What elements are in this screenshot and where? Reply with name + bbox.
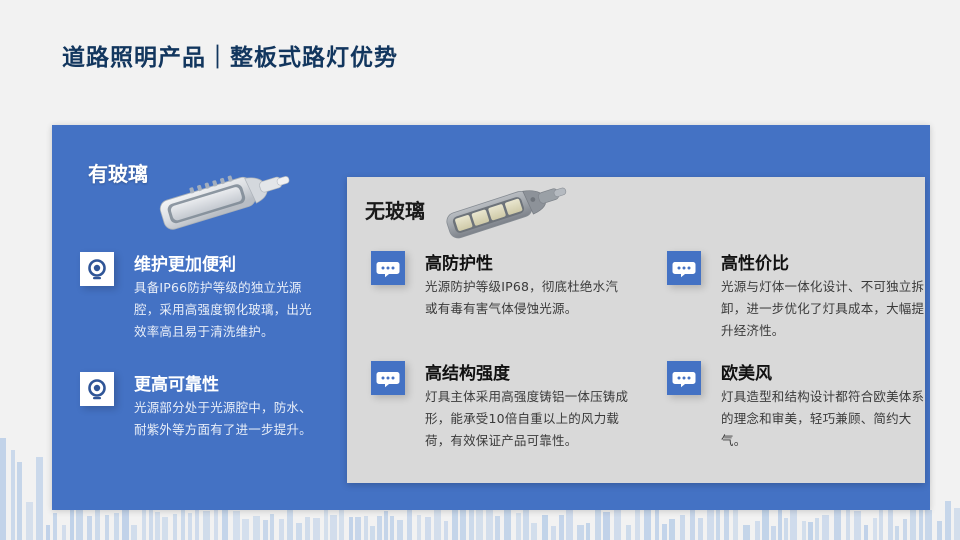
decorative-bar	[62, 525, 66, 540]
decorative-bar	[131, 525, 137, 540]
decorative-bar	[586, 523, 590, 540]
decorative-bar	[778, 506, 782, 540]
decorative-bar	[846, 505, 850, 540]
decorative-bar	[242, 519, 249, 540]
decorative-bar	[822, 515, 829, 540]
decorative-bar	[577, 525, 584, 540]
decorative-bar	[0, 438, 6, 540]
decorative-bar	[203, 511, 210, 540]
decorative-bar	[313, 518, 320, 540]
decorative-bar	[655, 509, 659, 540]
decorative-bar	[802, 521, 806, 540]
decorative-bar	[142, 506, 146, 540]
decorative-bar	[542, 515, 548, 540]
decorative-bar	[377, 516, 382, 540]
decorative-bar	[397, 520, 403, 540]
decorative-bar	[551, 526, 556, 540]
feature-body: 灯具主体采用高强度铸铝一体压铸成形，能承受10倍自重以上的风力载荷，有效保证产品…	[425, 386, 630, 452]
ring-icon	[80, 372, 114, 406]
decorative-bar	[733, 506, 738, 540]
slide-canvas: 道路照明产品｜整板式路灯优势 有玻璃	[0, 0, 960, 540]
feature-title: 维护更加便利	[134, 250, 236, 275]
feature-body: 光源防护等级IP68，彻底杜绝水汽或有毒有害气体侵蚀光源。	[425, 276, 630, 320]
decorative-bar	[954, 508, 960, 540]
decorative-bar	[36, 457, 43, 540]
decorative-bar	[724, 509, 729, 540]
decorative-bar	[95, 507, 100, 540]
decorative-bar	[76, 509, 83, 540]
decorative-bar	[173, 514, 177, 540]
decorative-bar	[531, 523, 537, 540]
decorative-bar	[87, 516, 92, 540]
decorative-bar	[296, 523, 302, 540]
decorative-bar	[349, 517, 353, 540]
decorative-bar	[162, 517, 168, 540]
decorative-bar	[486, 507, 493, 540]
decorative-bar	[460, 505, 466, 540]
decorative-bar	[614, 505, 621, 540]
decorative-bar	[903, 519, 907, 540]
decorative-bar	[716, 505, 720, 540]
feature-title: 高结构强度	[425, 359, 510, 384]
decorative-bar	[707, 510, 714, 540]
decorative-bar	[339, 508, 344, 540]
feature-title: 欧美风	[721, 359, 772, 384]
decorative-bar	[790, 510, 797, 540]
page-title: 道路照明产品｜整板式路灯优势	[62, 38, 398, 72]
decorative-bar	[324, 507, 328, 540]
street-lamp-with-glass-image	[150, 158, 295, 243]
decorative-bar	[771, 526, 776, 540]
decorative-bar	[233, 511, 240, 540]
decorative-bar	[680, 515, 685, 540]
decorative-bar	[895, 526, 899, 540]
decorative-bar	[253, 516, 260, 540]
decorative-bar	[669, 519, 675, 540]
feature-body: 具备IP66防护等级的独立光源腔，采用高强度钢化玻璃，出光效率高且易于清洗维护。	[134, 277, 324, 343]
decorative-bar	[937, 521, 942, 540]
decorative-bar	[384, 511, 388, 540]
decorative-bar	[417, 515, 421, 540]
decorative-bar	[595, 506, 601, 540]
chat-dots-icon	[371, 361, 405, 395]
decorative-bar	[626, 525, 631, 540]
decorative-bar	[214, 507, 218, 540]
decorative-bar	[407, 509, 412, 540]
decorative-bar	[270, 514, 274, 540]
decorative-bar	[815, 518, 819, 540]
decorative-bar	[662, 524, 667, 540]
decorative-bar	[434, 509, 441, 540]
decorative-bar	[925, 510, 932, 540]
decorative-bar	[11, 450, 15, 540]
section-heading-with-glass: 有玻璃	[88, 158, 148, 187]
decorative-bar	[910, 509, 916, 540]
decorative-bar	[784, 518, 788, 540]
decorative-bar	[698, 518, 703, 540]
decorative-bar	[834, 506, 841, 540]
decorative-bar	[559, 515, 564, 540]
decorative-bar	[425, 517, 431, 540]
decorative-bar	[762, 506, 769, 540]
decorative-bar	[370, 526, 375, 540]
decorative-bar	[263, 520, 268, 540]
decorative-bar	[743, 525, 750, 540]
decorative-bar	[452, 507, 458, 540]
decorative-bar	[755, 521, 760, 540]
decorative-bar	[644, 505, 651, 540]
decorative-bar	[566, 506, 573, 540]
decorative-bar	[26, 502, 33, 540]
feature-title: 高性价比	[721, 249, 789, 274]
feature-title: 高防护性	[425, 249, 493, 274]
decorative-bar	[864, 525, 868, 540]
decorative-bar	[188, 513, 192, 540]
chat-dots-icon	[371, 251, 405, 285]
decorative-bar	[355, 517, 361, 540]
decorative-bar	[873, 518, 877, 540]
feature-title: 更高可靠性	[134, 370, 219, 395]
chat-dots-icon	[667, 251, 701, 285]
decorative-bar	[603, 512, 610, 540]
ring-icon	[80, 252, 114, 286]
decorative-bar	[46, 525, 50, 540]
decorative-bar	[149, 505, 153, 540]
decorative-bar	[181, 507, 185, 540]
decorative-bar	[495, 516, 500, 540]
decorative-bar	[945, 501, 951, 540]
decorative-bar	[279, 519, 284, 540]
decorative-bar	[516, 513, 521, 540]
decorative-bar	[808, 522, 813, 540]
chat-dots-icon	[667, 361, 701, 395]
decorative-bar	[635, 509, 640, 540]
feature-body: 光源与灯体一体化设计、不可独立拆卸，进一步优化了灯具成本，大幅提升经济性。	[721, 276, 926, 342]
feature-body: 光源部分处于光源腔中，防水、耐紫外等方面有了进一步提升。	[134, 397, 324, 441]
decorative-bar	[879, 506, 883, 540]
decorative-bar	[195, 510, 199, 540]
decorative-bar	[53, 513, 57, 540]
feature-body: 灯具造型和结构设计都符合欧美体系的理念和审美，轻巧兼顾、简约大气。	[721, 386, 926, 452]
decorative-bar	[364, 516, 368, 540]
decorative-bar	[854, 511, 861, 540]
decorative-bar	[114, 513, 119, 540]
decorative-bar	[919, 505, 923, 540]
decorative-bar	[444, 521, 448, 540]
decorative-bar	[305, 517, 310, 540]
decorative-bar	[390, 516, 394, 540]
section-heading-no-glass: 无玻璃	[365, 195, 425, 224]
decorative-bar	[330, 515, 337, 540]
street-lamp-no-glass-image	[440, 173, 572, 251]
decorative-bar	[17, 462, 22, 540]
decorative-bar	[155, 512, 160, 540]
decorative-bar	[105, 515, 109, 540]
decorative-bar	[122, 509, 129, 540]
